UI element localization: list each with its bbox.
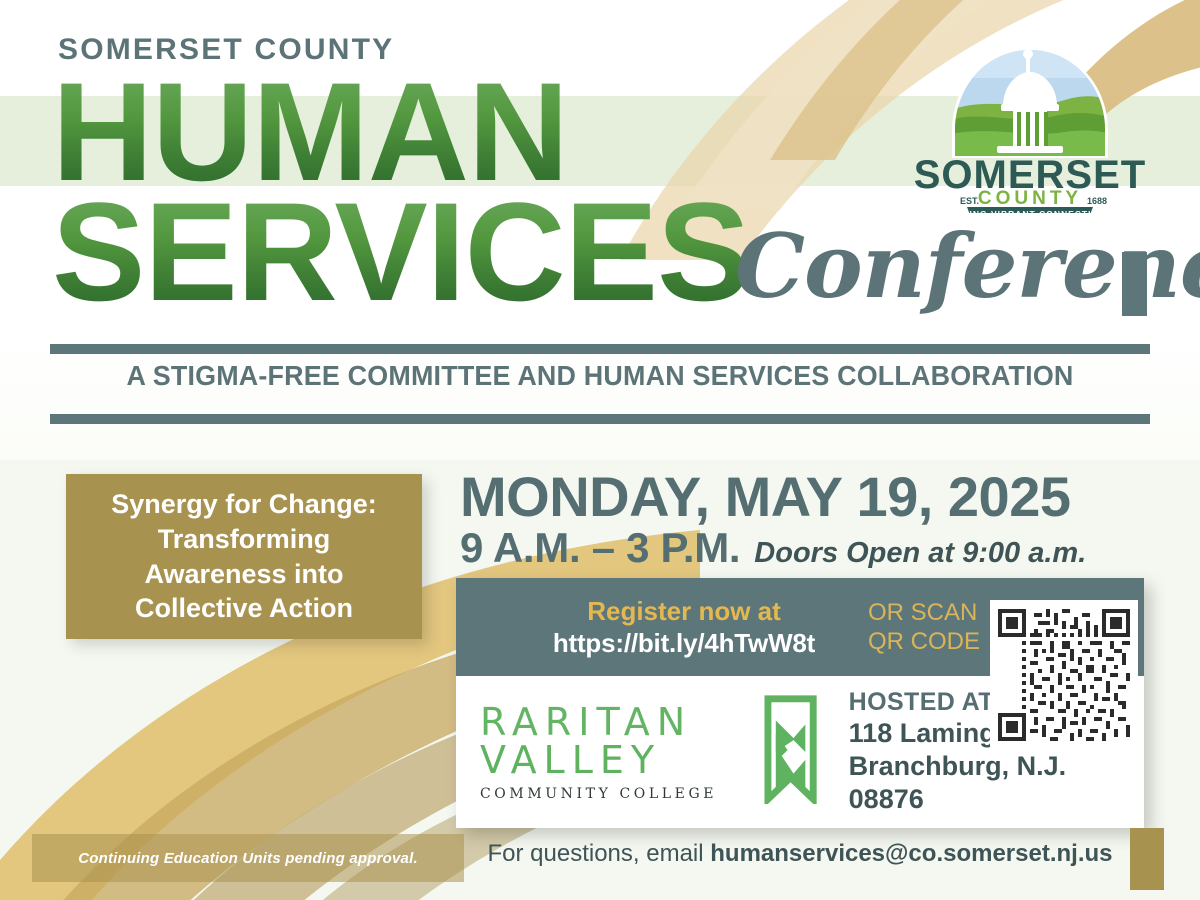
conference-theme-box: Synergy for Change: Transforming Awarene… [66,474,422,639]
register-heading: Register now at [514,595,854,628]
seal-tagline: MAKING VIBRANT CONNECTIONS [947,209,1113,213]
somerset-county-seal: SOMERSET COUNTY EST. 1688 MAKING VIBRANT… [905,38,1155,213]
flyer-canvas: SOMERSET COUNTY HUMAN SERVICES Conferenc… [0,0,1200,900]
rvcc-word-raritan: RARITAN [480,703,758,741]
divider-rule-bottom [50,414,1150,424]
page-subtitle: A STIGMA-FREE COMMITTEE AND HUMAN SERVIC… [24,360,1176,392]
theme-line-2: Transforming [111,522,377,557]
rvcc-word-valley: VALLEY [480,741,758,779]
theme-line-4: Collective Action [111,591,377,626]
event-time-row: 9 A.M. – 3 P.M. Doors Open at 9:00 a.m. [460,524,1086,572]
seal-est-year: 1688 [1087,196,1107,206]
rvcc-logo: RARITAN VALLEY COMMUNITY COLLEGE [456,703,758,802]
theme-line-1: Synergy for Change: [111,487,377,522]
scan-line-1: OR SCAN [868,598,980,627]
seal-subword: COUNTY [978,188,1082,209]
ceu-notice-text: Continuing Education Units pending appro… [78,850,418,867]
qr-code-icon [998,608,1130,742]
registration-card: Register now at https://bit.ly/4hTwW8t O… [456,578,1144,828]
rvcc-word-community-college: COMMUNITY COLLEGE [480,786,758,802]
venue-address-line2: Branchburg, N.J. 08876 [849,750,1144,816]
registration-text-block: Register now at https://bit.ly/4hTwW8t [456,595,854,660]
event-date: MONDAY, MAY 19, 2025 [460,464,1070,529]
qr-code[interactable] [990,600,1138,750]
event-doors-note: Doors Open at 9:00 a.m. [754,537,1086,570]
ceu-notice-bar: Continuing Education Units pending appro… [32,834,464,882]
registration-banner: Register now at https://bit.ly/4hTwW8t O… [456,578,1144,676]
theme-line-3: Awareness into [111,557,377,592]
event-time: 9 A.M. – 3 P.M. [460,524,740,572]
scan-line-2: QR CODE [868,627,980,656]
questions-prefix: For questions, email [488,840,711,867]
register-url-link[interactable]: https://bit.ly/4hTwW8t [514,627,854,660]
divider-rule-top [50,344,1150,354]
page-title-line2: SERVICES [52,188,749,317]
questions-line: For questions, email humanservices@co.so… [470,840,1130,868]
rvcc-ribbon-icon [764,694,817,804]
seal-est-label: EST. [960,196,979,206]
gold-accent-chip [1130,828,1164,890]
accent-tick-mark [1122,252,1147,316]
scan-instruction: OR SCAN QR CODE [868,598,980,657]
contact-email[interactable]: humanservices@co.somerset.nj.us [710,840,1112,867]
